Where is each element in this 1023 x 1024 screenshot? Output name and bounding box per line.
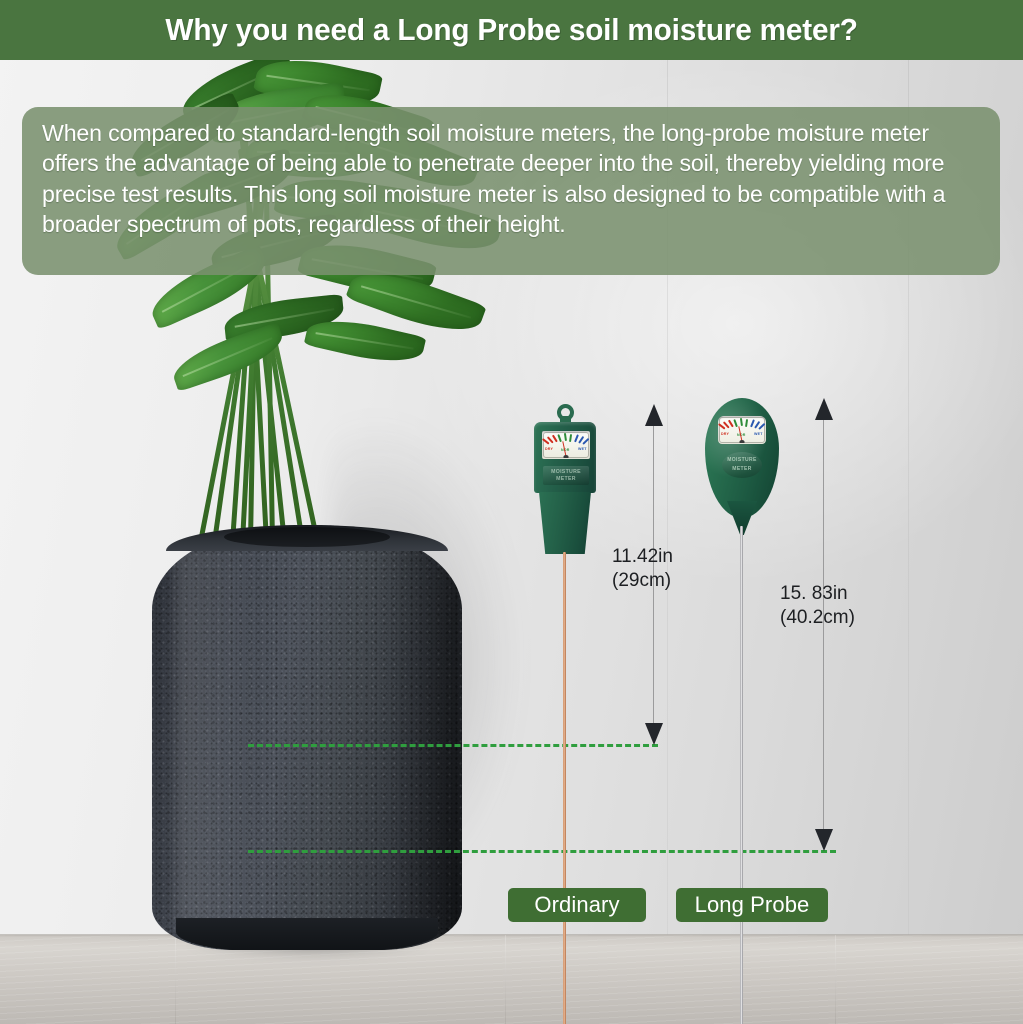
description-panel: When compared to standard-length soil mo… <box>22 107 1000 275</box>
header-banner: Why you need a Long Probe soil moisture … <box>0 0 1023 60</box>
label-pill-long-probe: Long Probe <box>676 888 828 922</box>
page-title: Why you need a Long Probe soil moisture … <box>165 12 857 48</box>
longprobe-probe-rod <box>740 526 743 1024</box>
long-probe-moisture-meter: DRY NOR WET MOISTURE METER <box>705 398 785 853</box>
dimension-label-longprobe: 15. 83in (40.2cm) <box>780 582 855 631</box>
longprobe-brand-emboss: MOISTURE METER <box>722 452 762 478</box>
longprobe-label-text: Long Probe <box>695 892 810 918</box>
ordinary-meter-head: DRY NOR WET MOISTURE METER <box>534 422 596 493</box>
pot-body <box>152 525 462 950</box>
ordinary-meter-lower-body <box>539 492 591 554</box>
dimension-arrow-up-ordinary <box>645 404 663 426</box>
ordinary-emboss-line2: METER <box>543 476 589 482</box>
dimension-arrow-up-longprobe <box>815 398 833 420</box>
ordinary-length-inches: 11.42in <box>612 545 673 569</box>
gauge-zone-wet: WET <box>754 432 763 436</box>
floor-plank-seam <box>835 935 836 1024</box>
gauge-zone-dry: DRY <box>721 432 729 436</box>
floor-plank-seam <box>505 935 506 1024</box>
ordinary-label-text: Ordinary <box>534 892 619 918</box>
gauge-zone-dry: DRY <box>545 447 553 451</box>
ordinary-emboss-line1: MOISTURE <box>543 469 589 475</box>
description-text: When compared to standard-length soil mo… <box>42 118 970 239</box>
ordinary-probe-rod <box>563 552 566 1024</box>
gauge-zone-wet: WET <box>578 447 587 451</box>
longprobe-gauge-face: DRY NOR WET <box>718 416 766 444</box>
dimension-arrow-down-longprobe <box>815 829 833 851</box>
longprobe-length-metric: (40.2cm) <box>780 606 855 630</box>
longprobe-length-inches: 15. 83in <box>780 582 855 606</box>
longprobe-emboss-line2: METER <box>722 466 762 472</box>
longprobe-meter-head: DRY NOR WET MOISTURE METER <box>705 398 779 518</box>
ordinary-gauge-face: DRY NOR WET <box>542 431 590 459</box>
label-pill-ordinary: Ordinary <box>508 888 646 922</box>
infographic-canvas: 11.42in (29cm) 15. 83in (40.2cm) <box>0 0 1023 1024</box>
dimension-label-ordinary: 11.42in (29cm) <box>612 545 673 594</box>
ordinary-moisture-meter: DRY NOR WET MOISTURE METER <box>531 404 599 749</box>
ordinary-length-metric: (29cm) <box>612 569 673 593</box>
pot-soil-opening <box>224 527 390 547</box>
dimension-arrow-down-ordinary <box>645 723 663 745</box>
ordinary-brand-emboss: MOISTURE METER <box>543 466 589 485</box>
longprobe-emboss-line1: MOISTURE <box>722 457 762 463</box>
